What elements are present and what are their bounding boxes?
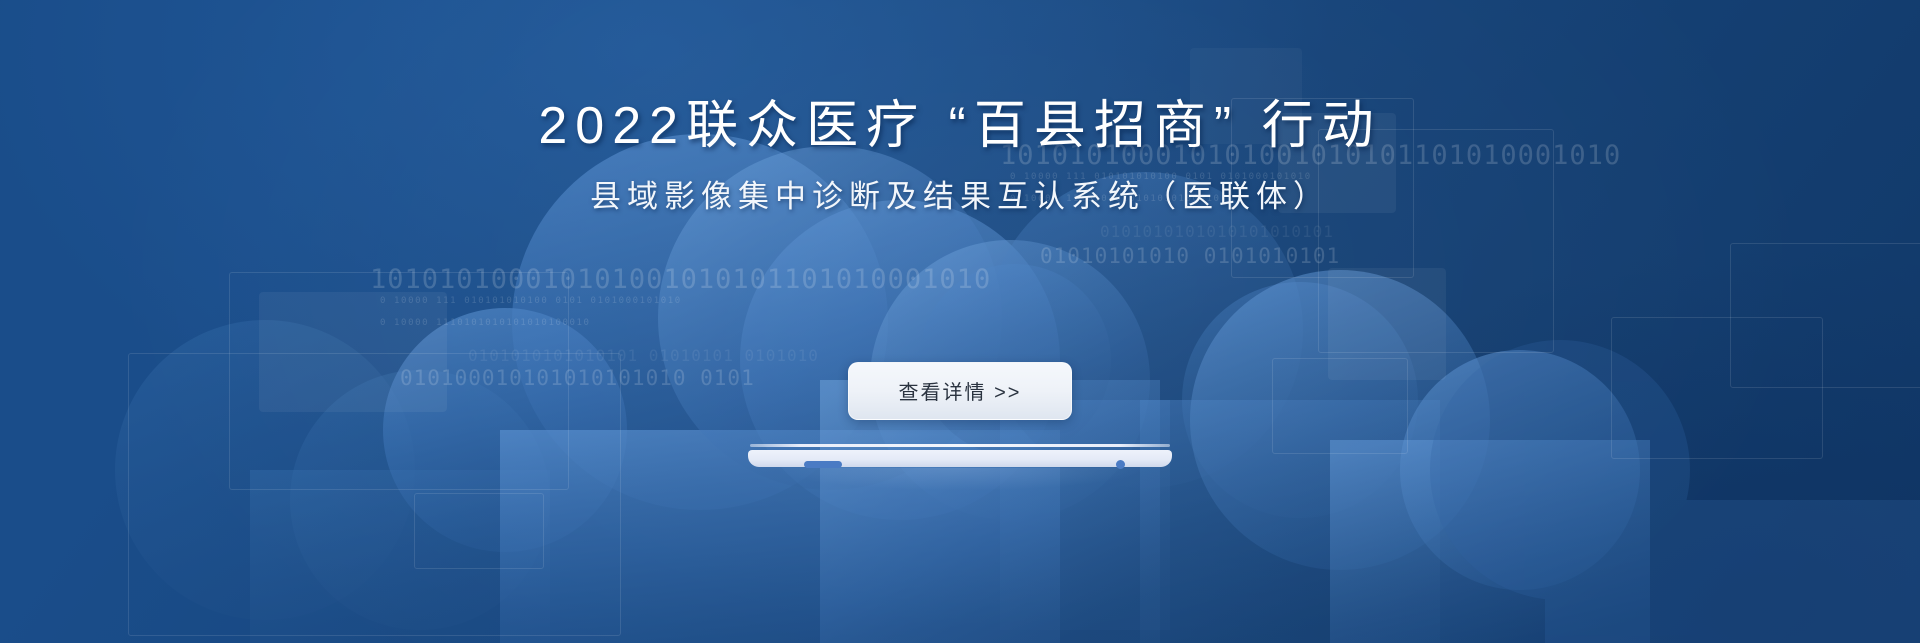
view-details-button[interactable]: 查看详情 >> <box>848 362 1072 420</box>
promo-banner: 101010100010101001010101101010001010 0 1… <box>0 0 1920 643</box>
device-speaker-icon <box>804 461 842 468</box>
cta-container: 查看详情 >> <box>0 362 1920 420</box>
device-screen-edge <box>750 444 1170 447</box>
page-title: 2022联众医疗 “百县招商” 行动 <box>0 96 1920 157</box>
outlined-square <box>414 493 544 569</box>
page-subtitle: 县域影像集中诊断及结果互认系统（医联体） <box>0 177 1920 217</box>
device-reflection <box>778 468 1142 490</box>
device-body <box>748 450 1172 467</box>
tablet-device <box>748 444 1172 474</box>
banner-text-block: 2022联众医疗 “百县招商” 行动 县域影像集中诊断及结果互认系统（医联体） <box>0 96 1920 218</box>
